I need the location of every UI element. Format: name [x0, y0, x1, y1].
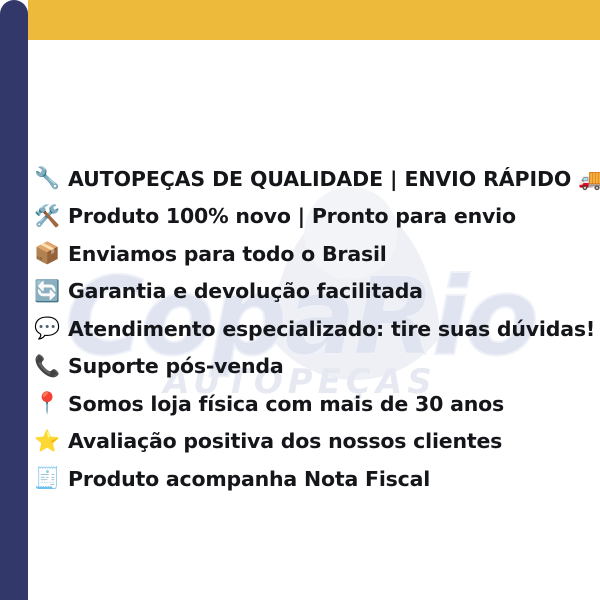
benefit-text: AUTOPEÇAS DE QUALIDADE | ENVIO RÁPIDO	[68, 167, 571, 191]
benefit-row: 🔧AUTOPEÇAS DE QUALIDADE | ENVIO RÁPIDO🚚	[28, 160, 600, 198]
hammer-and-wrench-icon: 🛠️	[34, 206, 68, 227]
receipt-icon: 🧾	[34, 468, 68, 489]
refresh-arrows-icon: 🔄	[34, 281, 68, 302]
map-pin-icon: 📍	[34, 393, 68, 414]
speech-balloon-icon: 💬	[34, 318, 68, 339]
promo-banner-card: CopaRio AUTOPEÇAS 🔧AUTOPEÇAS DE QUALIDAD…	[0, 0, 600, 600]
benefit-row: 🔄Garantia e devolução facilitada	[28, 273, 600, 311]
benefit-text: Atendimento especializado: tire suas dúv…	[68, 317, 595, 341]
benefits-list: 🔧AUTOPEÇAS DE QUALIDADE | ENVIO RÁPIDO🚚🛠…	[28, 160, 600, 498]
benefit-row: 📍Somos loja física com mais de 30 anos	[28, 385, 600, 423]
benefit-text: Suporte pós-venda	[68, 354, 284, 378]
benefit-row: 💬Atendimento especializado: tire suas dú…	[28, 310, 600, 348]
wrench-icon: 🔧	[34, 168, 68, 189]
benefit-row: 📞Suporte pós-venda	[28, 348, 600, 386]
benefit-row: 🧾Produto acompanha Nota Fiscal	[28, 460, 600, 498]
benefit-row: ⭐Avaliação positiva dos nossos clientes	[28, 423, 600, 461]
benefit-text: Garantia e devolução facilitada	[68, 279, 423, 303]
delivery-truck-icon: 🚚	[578, 169, 600, 189]
benefit-row: 📦Enviamos para todo o Brasil	[28, 235, 600, 273]
telephone-receiver-icon: 📞	[34, 356, 68, 377]
benefit-text: Avaliação positiva dos nossos clientes	[68, 429, 502, 453]
benefit-text: Produto acompanha Nota Fiscal	[68, 467, 430, 491]
benefit-text: Somos loja física com mais de 30 anos	[68, 392, 504, 416]
left-navy-accent-bar	[0, 0, 28, 600]
star-icon: ⭐	[34, 431, 68, 452]
benefit-row: 🛠️Produto 100% novo | Pronto para envio	[28, 198, 600, 236]
top-yellow-accent-bar	[28, 0, 600, 40]
benefit-text: Enviamos para todo o Brasil	[68, 242, 387, 266]
benefit-text: Produto 100% novo | Pronto para envio	[68, 204, 516, 228]
package-icon: 📦	[34, 243, 68, 264]
